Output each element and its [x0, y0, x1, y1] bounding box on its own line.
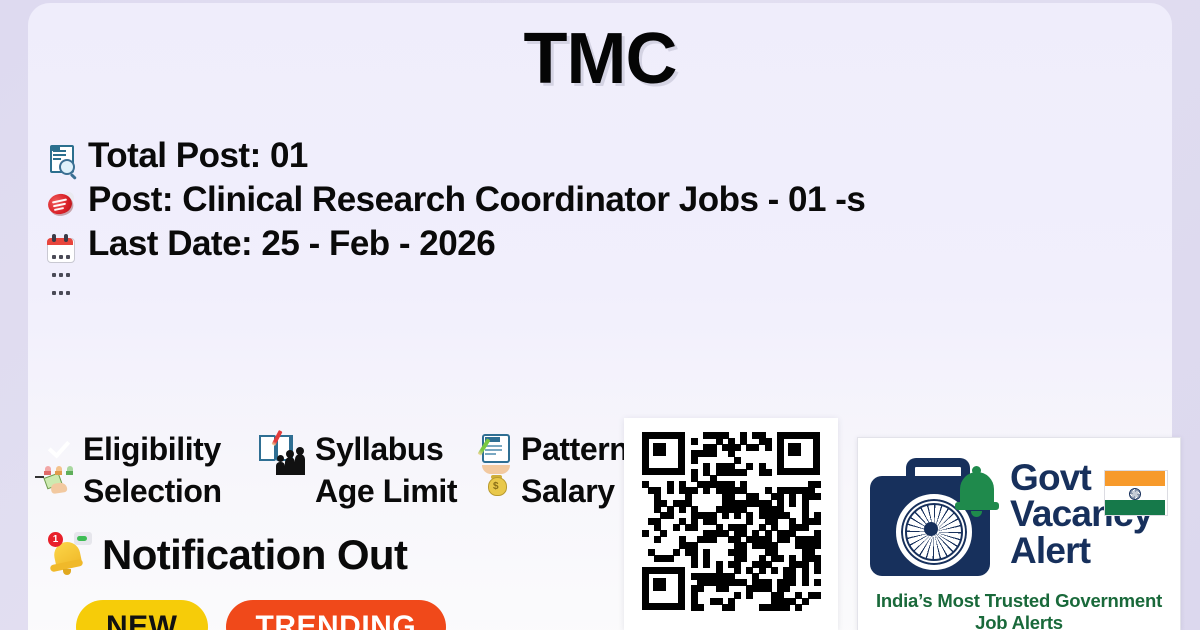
feature-label-syllabus: Syllabus [315, 431, 443, 468]
green-check-icon [44, 433, 74, 465]
feature-syllabus[interactable]: Syllabus [276, 431, 482, 468]
feature-label-salary: Salary [521, 473, 615, 510]
feature-label-selection: Selection [83, 473, 222, 510]
status-badges: NEW TRENDING [76, 600, 446, 630]
detail-row-post-name: Post: Clinical Research Coordinator Jobs… [44, 180, 1164, 224]
feature-label-age-limit: Age Limit [315, 473, 457, 510]
notification-out-block: 1 Notification Out [48, 531, 407, 579]
red-stamp-icon [44, 180, 78, 224]
qr-code [642, 432, 820, 612]
feature-salary[interactable]: $ Salary [482, 473, 615, 510]
notification-out-label: Notification Out [102, 531, 407, 579]
india-flag-icon [1104, 470, 1168, 516]
calendar-icon [44, 224, 78, 268]
page-title: TMC [28, 23, 1172, 95]
feature-selection[interactable]: Selection [44, 473, 276, 510]
detail-text-post-name: Post: Clinical Research Coordinator Jobs… [88, 180, 865, 219]
green-bell-icon [954, 466, 1000, 512]
brand-tagline: India’s Most Trusted Government Job Aler… [858, 590, 1180, 630]
detail-text-last-date: Last Date: 25 - Feb - 2026 [88, 224, 495, 263]
status-badge-trending[interactable]: TRENDING [226, 600, 447, 630]
job-document-search-icon [44, 136, 78, 180]
qr-code-card[interactable] [624, 418, 838, 630]
feature-pattern[interactable]: Pattern [482, 431, 628, 468]
brand-line-1: Govt [1010, 457, 1091, 498]
status-badge-new[interactable]: NEW [76, 600, 208, 630]
features-row-1: Eligibility Syllabus Pattern [44, 428, 704, 470]
detail-row-total-post: Total Post: 01 [44, 136, 1164, 180]
poster-root: TMC Total Post: 01 [0, 0, 1200, 630]
brand-line-3: Alert [1010, 530, 1090, 571]
features-row-2: Selection Age Limit $ [44, 470, 704, 512]
detail-text-total-post: Total Post: 01 [88, 136, 308, 175]
bell-notification-icon: 1 [48, 532, 90, 578]
features-list: Eligibility Syllabus Pattern [44, 428, 704, 512]
brand-logo-mark: Govt Vacancy Alert [868, 458, 1170, 584]
feature-label-eligibility: Eligibility [83, 431, 221, 468]
job-details-list: Total Post: 01 Post: Clinical Research C… [44, 136, 1164, 268]
exam-paper-pencil-icon [482, 433, 512, 465]
feature-label-pattern: Pattern [521, 431, 628, 468]
detail-row-last-date: Last Date: 25 - Feb - 2026 [44, 224, 1164, 268]
feature-age-limit[interactable]: Age Limit [276, 473, 482, 510]
money-bag-hand-icon: $ [482, 475, 512, 507]
selection-hand-icon [44, 475, 74, 507]
notification-badge-count: 1 [48, 532, 63, 547]
brand-logo-card: Govt Vacancy Alert India’s Most Trusted … [857, 437, 1181, 630]
people-family-icon [276, 475, 306, 507]
feature-eligibility[interactable]: Eligibility [44, 431, 276, 468]
